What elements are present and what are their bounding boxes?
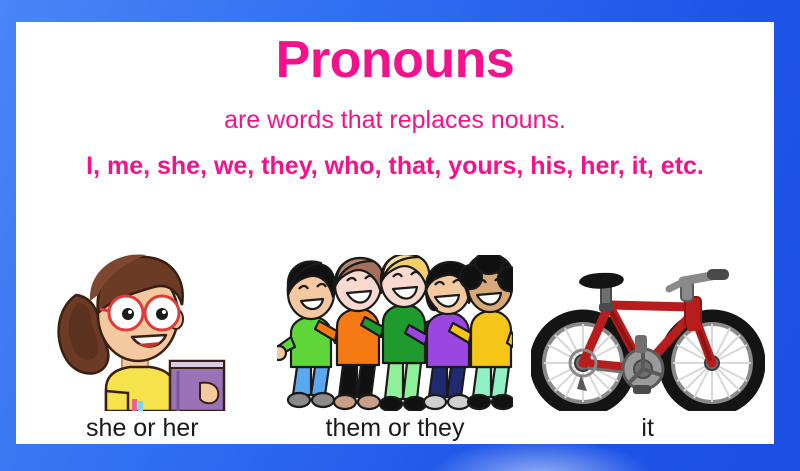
caption-them-or-they: them or they: [326, 415, 465, 443]
figure-it: it: [528, 241, 768, 443]
figure-row: she or her: [16, 227, 774, 442]
caption-it: it: [641, 415, 654, 443]
girl-with-book-icon: [50, 243, 235, 411]
slide-canvas: Pronouns are words that replaces nouns. …: [16, 22, 774, 444]
figure-them-or-they: them or they: [275, 241, 515, 443]
figure-she-or-her: she or her: [22, 241, 262, 443]
group-of-children-icon: [277, 255, 513, 411]
children-group-illustration: [277, 241, 513, 411]
bicycle-icon: [531, 259, 765, 411]
examples-text: I, me, she, we, they, who, that, yours, …: [16, 154, 774, 179]
girl-illustration: [50, 241, 235, 411]
caption-she-or-her: she or her: [86, 415, 199, 443]
page-title: Pronouns: [16, 34, 774, 86]
definition-text: are words that replaces nouns.: [16, 108, 774, 133]
bicycle-illustration: [531, 241, 765, 411]
slide-root: Pronouns are words that replaces nouns. …: [0, 0, 800, 471]
border-highlight: [430, 440, 650, 471]
